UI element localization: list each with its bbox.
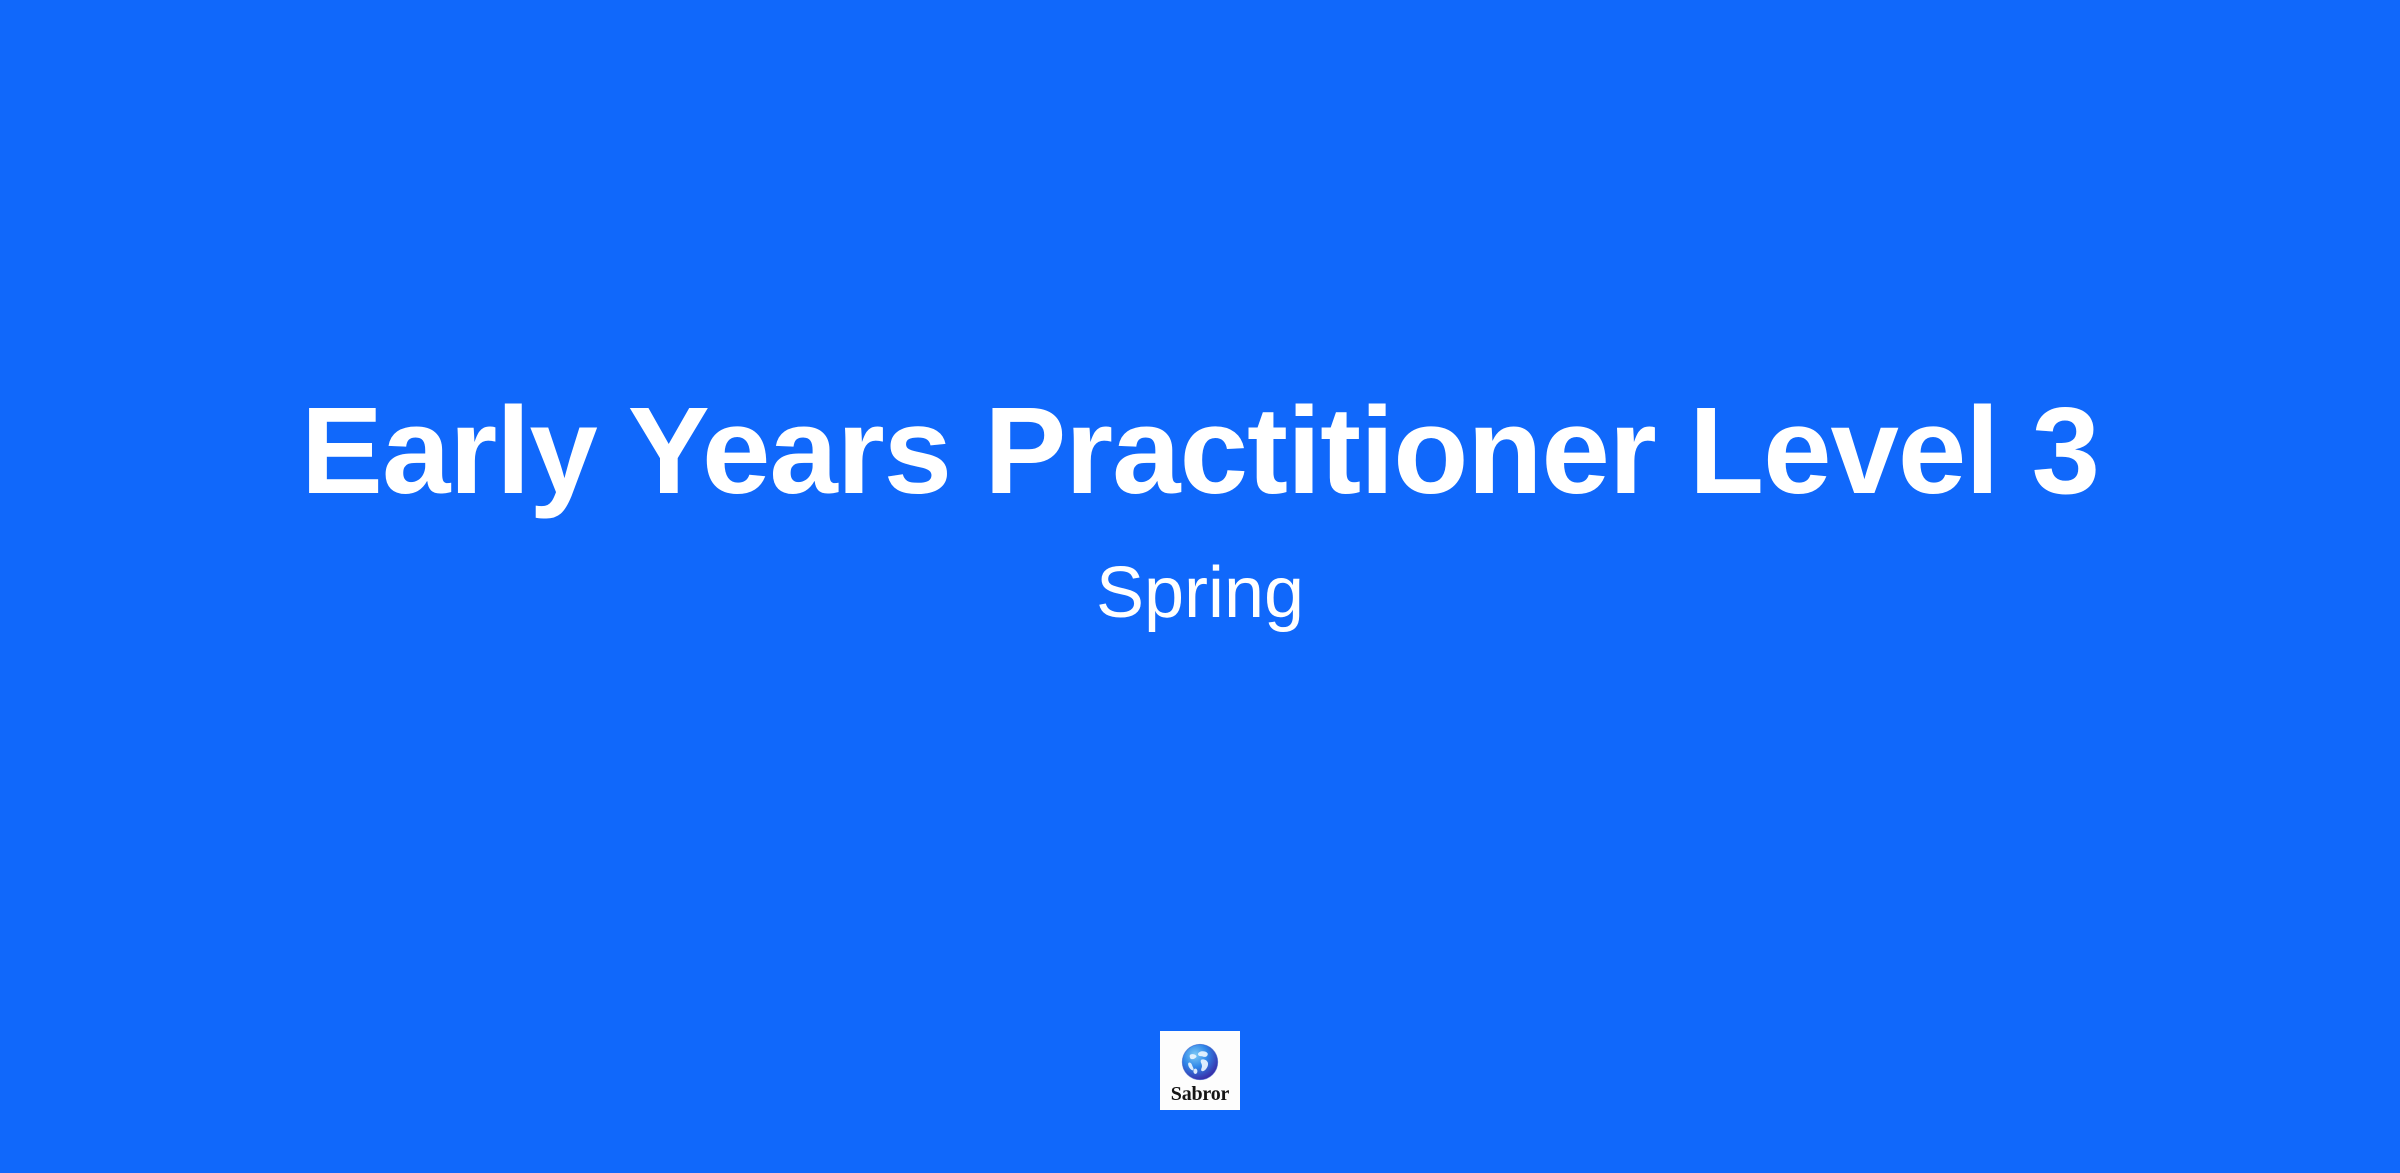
slide-canvas: Early Years Practitioner Level 3 Spring <box>0 0 2400 1173</box>
globe-icon <box>1179 1041 1221 1083</box>
brand-logo: Sabror <box>1160 1031 1240 1110</box>
page-subtitle: Spring <box>0 557 2400 629</box>
title-block: Early Years Practitioner Level 3 Spring <box>0 390 2400 629</box>
page-title: Early Years Practitioner Level 3 <box>0 390 2400 513</box>
brand-wordmark: Sabror <box>1171 1084 1229 1104</box>
